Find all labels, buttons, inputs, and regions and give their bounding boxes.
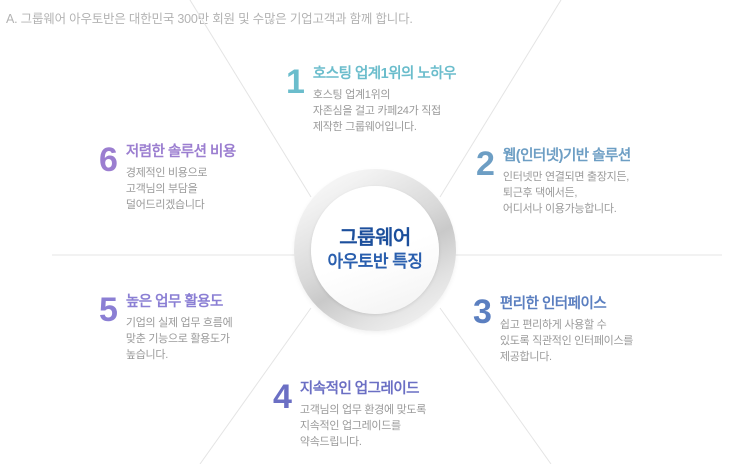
feature-number-2: 2: [476, 149, 495, 180]
feature-text-2: 웹(인터넷)기반 솔루션 인터넷만 연결되면 출장지든,퇴근후 댁에서든,어디서…: [503, 148, 631, 218]
feature-body-1: 호스팅 업계1위의자존심을 걸고 카페24가 직접제작한 그룹웨어입니다.: [313, 88, 456, 136]
hub-title-primary: 그룹웨어: [339, 227, 411, 250]
feature-text-1: 호스팅 업계1위의 노하우 호스팅 업계1위의자존심을 걸고 카페24가 직접제…: [313, 66, 456, 136]
hub-inner-disc: 그룹웨어 아우토반 특징: [311, 186, 439, 314]
feature-title-3: 편리한 인터페이스: [500, 296, 633, 313]
feature-item-1: 1 호스팅 업계1위의 노하우 호스팅 업계1위의자존심을 걸고 카페24가 직…: [286, 66, 456, 136]
feature-text-5: 높은 업무 활용도 기업의 실제 업무 흐름에맞춘 기능으로 활용도가높습니다.: [126, 294, 232, 364]
center-hub: 그룹웨어 아우토반 특징: [294, 169, 456, 331]
feature-text-4: 지속적인 업그레이드 고객님의 업무 환경에 맞도록지속적인 업그레이드를약속드…: [300, 381, 426, 451]
feature-item-5: 5 높은 업무 활용도 기업의 실제 업무 흐름에맞춘 기능으로 활용도가높습니…: [99, 294, 232, 364]
feature-item-2: 2 웹(인터넷)기반 솔루션 인터넷만 연결되면 출장지든,퇴근후 댁에서든,어…: [476, 148, 631, 218]
infographic-canvas: A. 그룹웨어 아우토반은 대한민국 300만 회원 및 수많은 기업고객과 함…: [0, 0, 750, 464]
feature-title-5: 높은 업무 활용도: [126, 294, 232, 311]
feature-title-2: 웹(인터넷)기반 솔루션: [503, 148, 631, 165]
feature-body-4: 고객님의 업무 환경에 맞도록지속적인 업그레이드를약속드립니다.: [300, 403, 426, 451]
feature-text-6: 저렴한 솔루션 비용 경제적인 비용으로고객님의 부담을덜어드리겠습니다: [126, 144, 236, 214]
feature-title-1: 호스팅 업계1위의 노하우: [313, 66, 456, 83]
feature-body-6: 경제적인 비용으로고객님의 부담을덜어드리겠습니다: [126, 166, 236, 214]
feature-body-2: 인터넷만 연결되면 출장지든,퇴근후 댁에서든,어디서나 이용가능합니다.: [503, 170, 631, 218]
feature-item-3: 3 편리한 인터페이스 쉽고 편리하게 사용할 수있도록 직관적인 인터페이스를…: [473, 296, 633, 366]
hub-title-secondary: 아우토반 특징: [327, 251, 422, 272]
feature-item-4: 4 지속적인 업그레이드 고객님의 업무 환경에 맞도록지속적인 업그레이드를약…: [273, 381, 426, 451]
feature-body-5: 기업의 실제 업무 흐름에맞춘 기능으로 활용도가높습니다.: [126, 316, 232, 364]
feature-title-6: 저렴한 솔루션 비용: [126, 144, 236, 161]
feature-number-3: 3: [473, 297, 492, 328]
feature-number-5: 5: [99, 295, 118, 326]
feature-text-3: 편리한 인터페이스 쉽고 편리하게 사용할 수있도록 직관적인 인터페이스를제공…: [500, 296, 633, 366]
feature-number-1: 1: [286, 67, 305, 98]
feature-number-6: 6: [99, 145, 118, 176]
feature-number-4: 4: [273, 382, 292, 413]
feature-item-6: 6 저렴한 솔루션 비용 경제적인 비용으로고객님의 부담을덜어드리겠습니다: [99, 144, 236, 214]
feature-title-4: 지속적인 업그레이드: [300, 381, 426, 398]
feature-body-3: 쉽고 편리하게 사용할 수있도록 직관적인 인터페이스를제공합니다.: [500, 318, 633, 366]
